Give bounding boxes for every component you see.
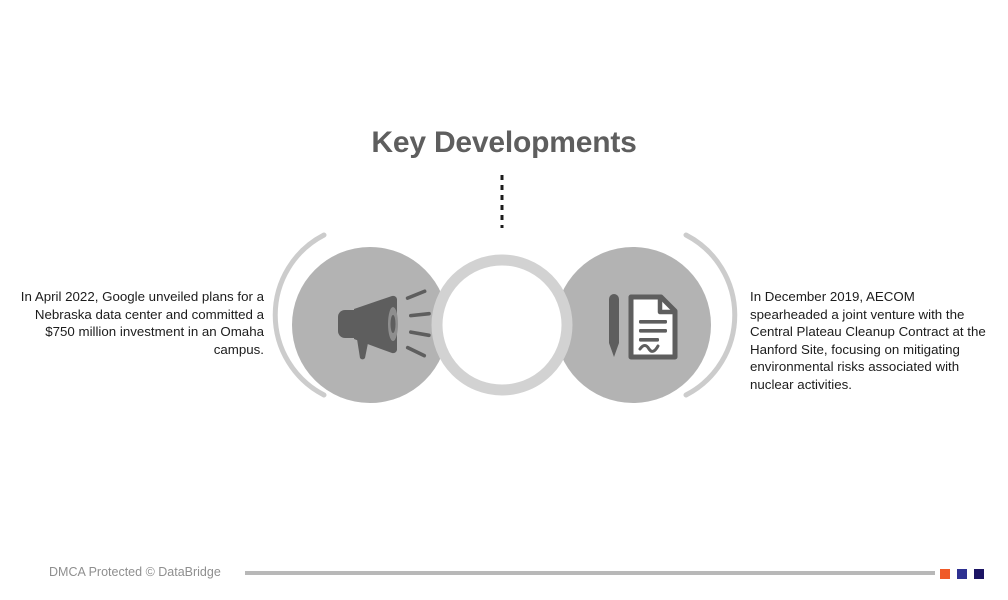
slide-canvas: Key Developments [0,0,1008,600]
brand-marks [940,568,986,580]
center-ring [437,260,567,390]
footer-divider-line [245,571,935,575]
footer: DMCA Protected © DataBridge [0,560,1008,590]
node-right-description: In December 2019, AECOM spearheaded a jo… [750,288,990,393]
footer-square-blue [957,569,967,579]
footer-square-navy [974,569,984,579]
footer-square-orange [940,569,950,579]
footer-credit-text: DMCA Protected © DataBridge [49,565,221,579]
key-developments-diagram [270,160,740,420]
node-left-description: In April 2022, Google unveiled plans for… [16,288,264,358]
page-title: Key Developments [0,125,1008,161]
